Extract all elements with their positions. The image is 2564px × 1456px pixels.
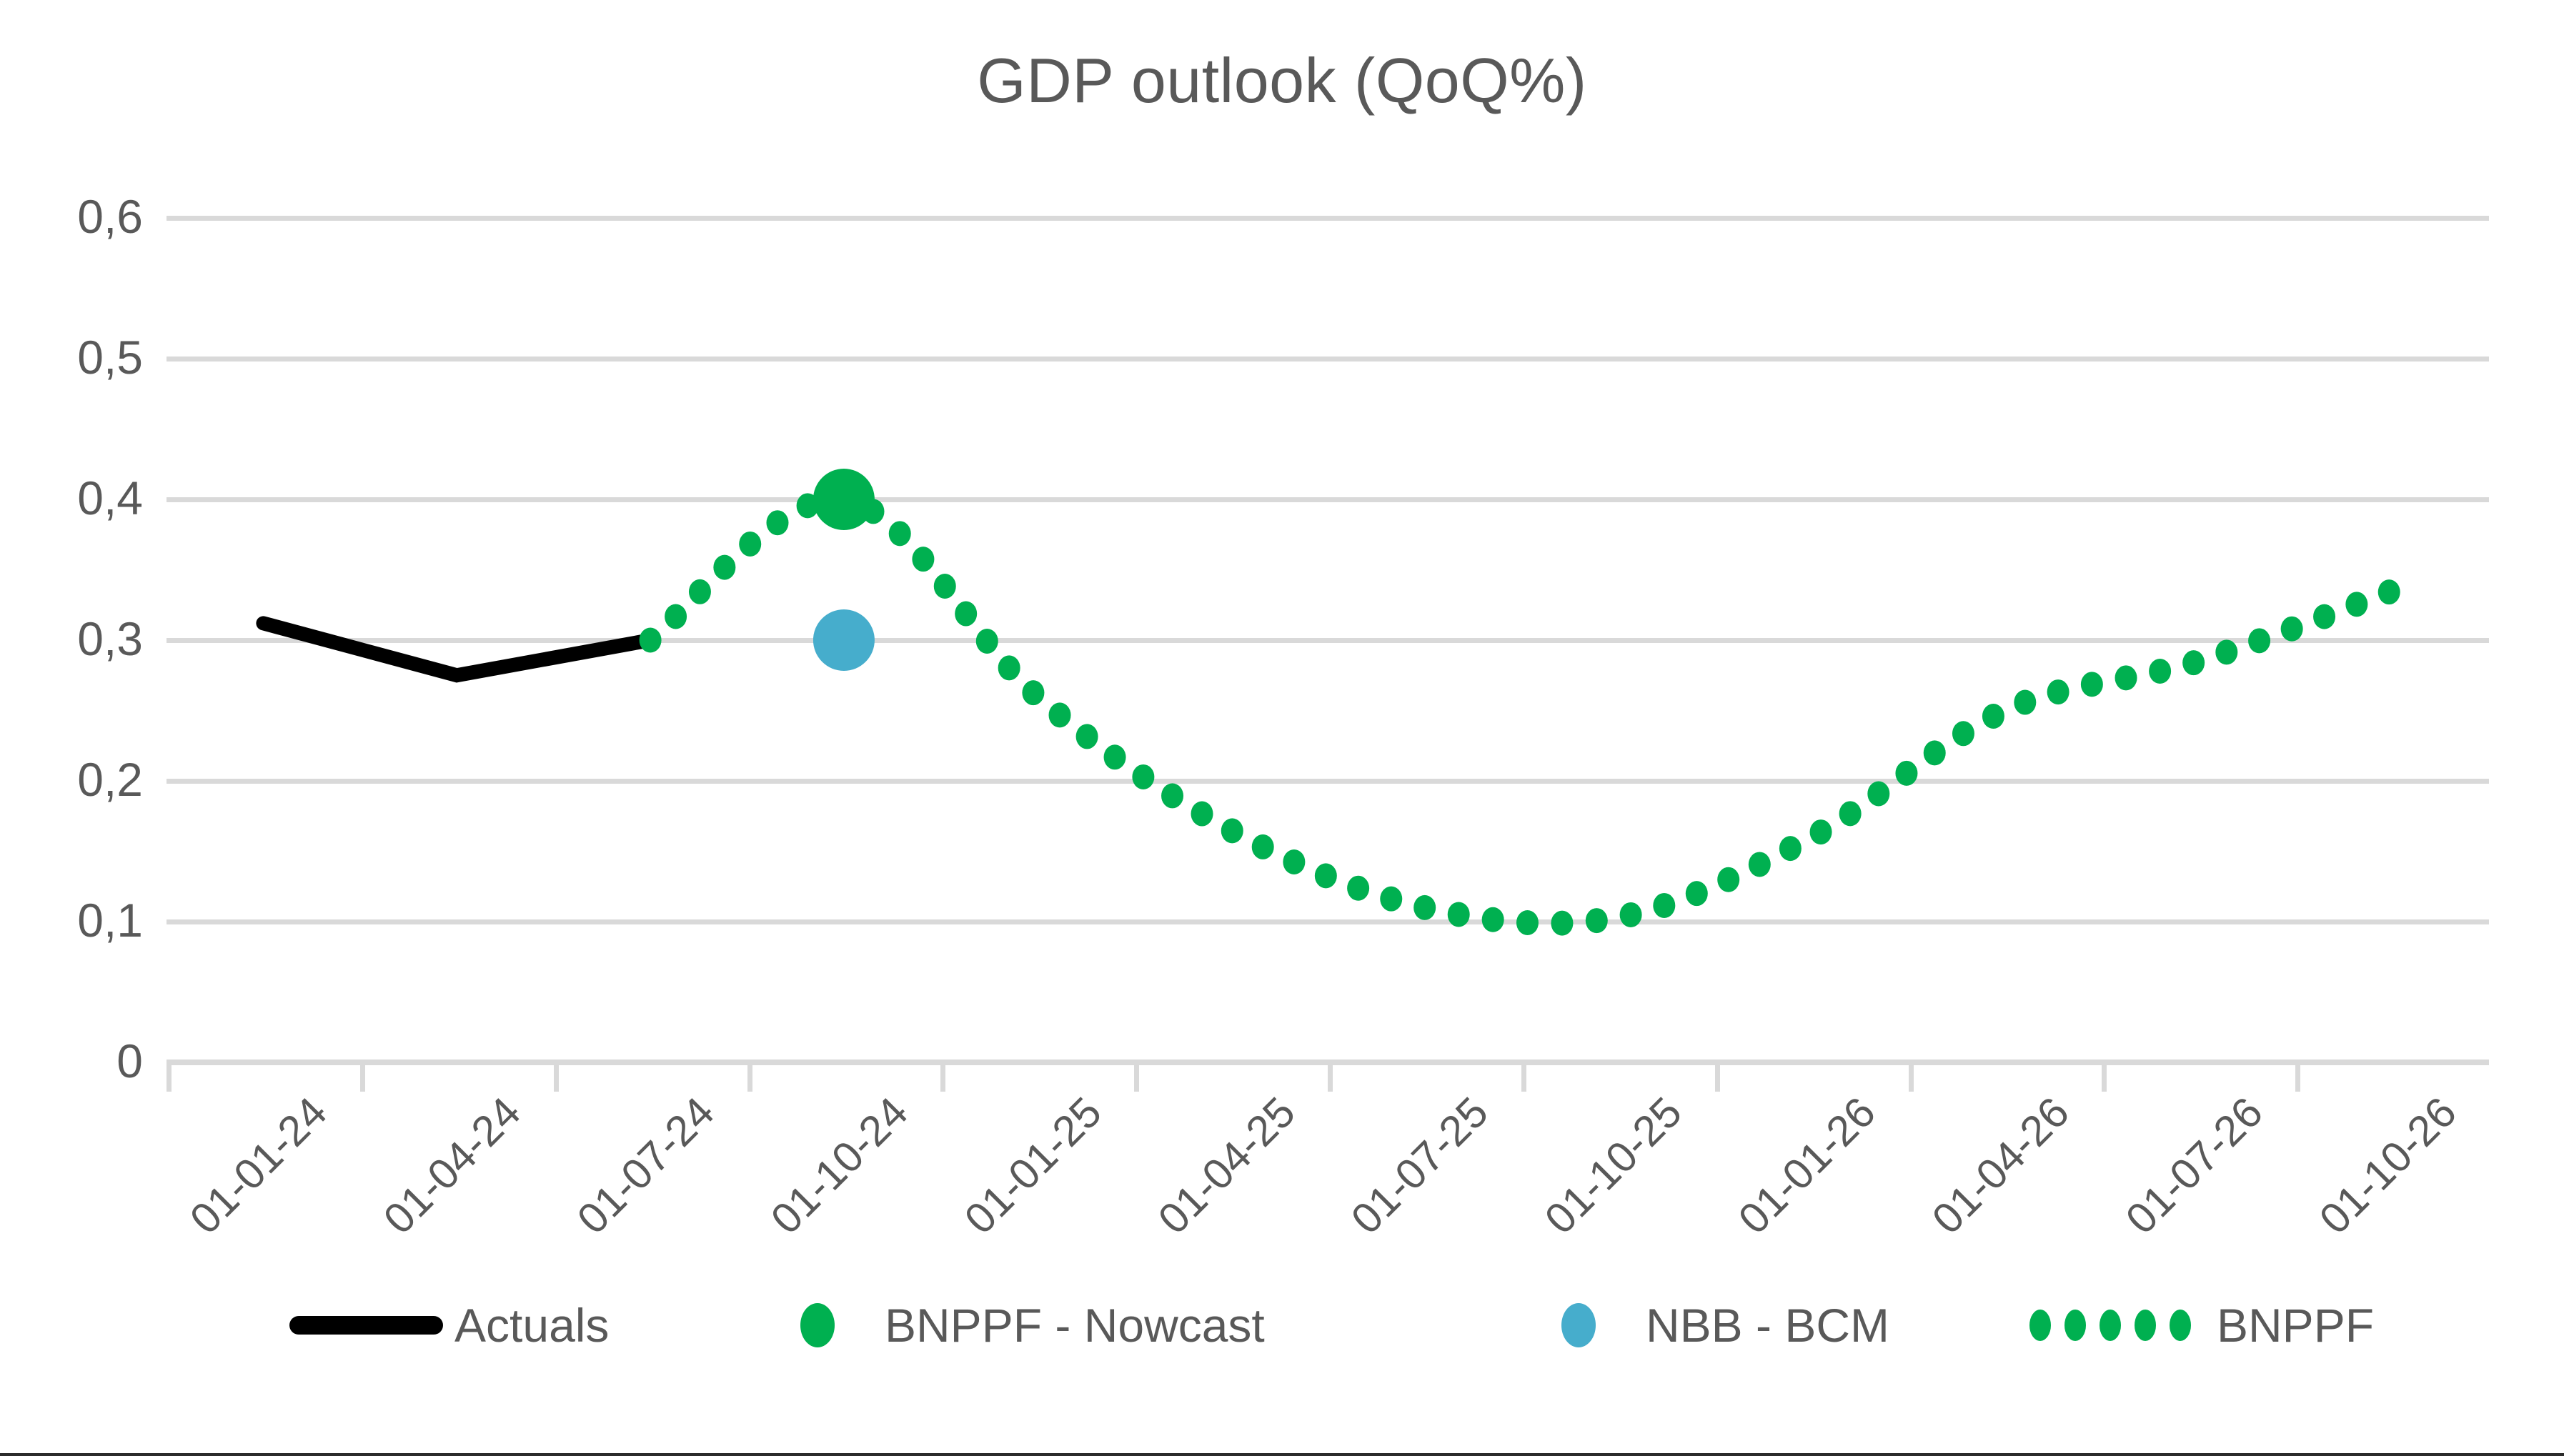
gridline [167,497,2489,502]
x-axis-tick-label: 01-01-26 [1729,1087,1885,1244]
x-axis-tick-label: 01-07-25 [1342,1087,1499,1244]
legend-dot-swatch [1561,1303,1596,1347]
y-axis-tick-label: 0,6 [0,189,143,244]
x-axis-tick-label: 01-01-24 [181,1087,337,1244]
gridline [167,919,2489,924]
x-axis-tick-label: 01-10-24 [761,1087,918,1244]
legend-dot-swatch [800,1303,835,1347]
legend-dotted-dot [2170,1310,2191,1341]
legend-item-label: Actuals [454,1298,609,1352]
x-axis-tick-label: 01-10-25 [1535,1087,1691,1244]
chart-legend: ActualsBNPPF - NowcastNBB - BCMBNPPF [0,1282,2564,1368]
y-axis-tick-label: 0,5 [0,330,143,384]
legend-item-label: BNPPF - Nowcast [885,1298,1265,1352]
gridline [167,638,2489,643]
legend-dotted-dot [2029,1310,2051,1341]
x-axis-tick-label: 01-07-26 [2116,1087,2272,1244]
legend-line-swatch [289,1316,443,1335]
legend-dotted-dot [2135,1310,2156,1341]
x-axis-tick-label: 01-04-24 [374,1087,530,1244]
x-axis-tick [1909,1065,1914,1092]
legend-item[interactable]: NBB - BCM [1561,1282,1889,1368]
x-axis-tick [747,1065,752,1092]
legend-item[interactable]: BNPPF - Nowcast [800,1282,1265,1368]
x-axis-tick [2102,1065,2107,1092]
chart-container: GDP outlook (QoQ%) ActualsBNPPF - Nowcas… [0,0,2564,1456]
gridline [167,216,2489,221]
x-axis-tick-label: 01-10-26 [2310,1087,2466,1244]
gridline [167,779,2489,784]
legend-dotted-dot [2064,1310,2086,1341]
legend-item-label: NBB - BCM [1646,1298,1889,1352]
plot-area [167,218,2489,1062]
x-axis-tick [360,1065,365,1092]
y-axis-tick-label: 0,4 [0,471,143,525]
y-axis-tick-label: 0,2 [0,752,143,807]
legend-item-label: BNPPF [2217,1298,2374,1352]
x-axis-tick [1328,1065,1333,1092]
y-axis-tick-label: 0 [0,1034,143,1088]
x-axis-tick [2295,1065,2300,1092]
x-axis-tick-label: 01-04-26 [1922,1087,2079,1244]
x-axis-tick-label: 01-04-25 [1148,1087,1305,1244]
legend-item[interactable]: BNPPF [2029,1282,2374,1368]
x-axis-tick [1715,1065,1720,1092]
x-axis-tick [1521,1065,1526,1092]
x-axis-tick [940,1065,945,1092]
chart-title: GDP outlook (QoQ%) [0,44,2564,117]
y-axis-tick-label: 0,3 [0,612,143,666]
x-axis-line [167,1059,2489,1065]
x-axis-tick-label: 01-07-24 [567,1087,724,1244]
x-axis-tick [1134,1065,1139,1092]
x-axis-tick [167,1065,172,1092]
legend-dotted-swatch [2029,1310,2191,1341]
gridline [167,356,2489,361]
legend-dotted-dot [2100,1310,2121,1341]
x-axis-tick [554,1065,559,1092]
y-axis-tick-label: 0,1 [0,893,143,947]
x-axis-tick-label: 01-01-25 [955,1087,1111,1244]
legend-item[interactable]: Actuals [289,1282,609,1368]
